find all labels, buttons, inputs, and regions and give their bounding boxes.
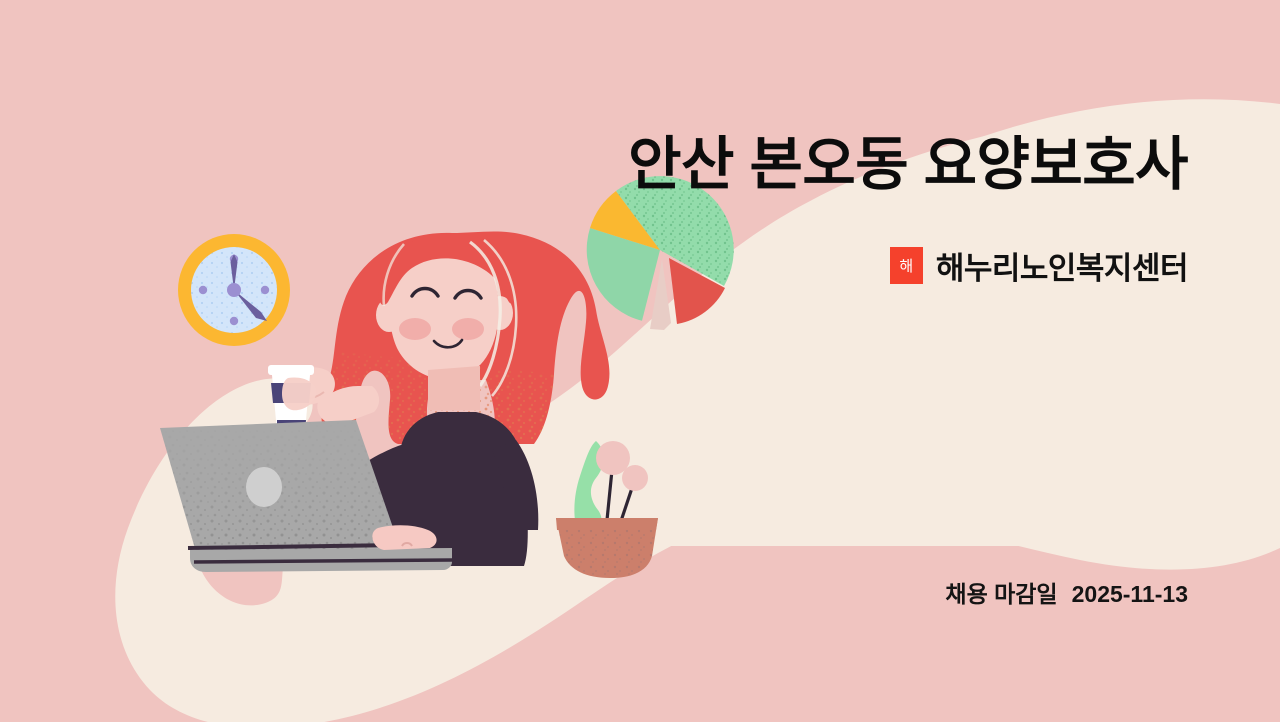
company-name[interactable]: 해누리노인복지센터	[936, 243, 1188, 288]
deadline-label: 채용 마감일	[945, 575, 1057, 609]
job-posting-poster: 안산 본오동 요양보호사 해 해누리노인복지센터 채용 마감일 2025-11-…	[0, 0, 1280, 722]
company-logo-badge: 해	[890, 247, 923, 284]
deadline-row: 채용 마감일 2025-11-13	[945, 575, 1188, 609]
wall-clock	[178, 234, 290, 346]
illustration-artwork	[0, 0, 1280, 722]
page-title: 안산 본오동 요양보호사	[148, 131, 1188, 199]
company-row[interactable]: 해 해누리노인복지센터	[890, 243, 1188, 288]
deadline-date: 2025-11-13	[1072, 581, 1188, 608]
